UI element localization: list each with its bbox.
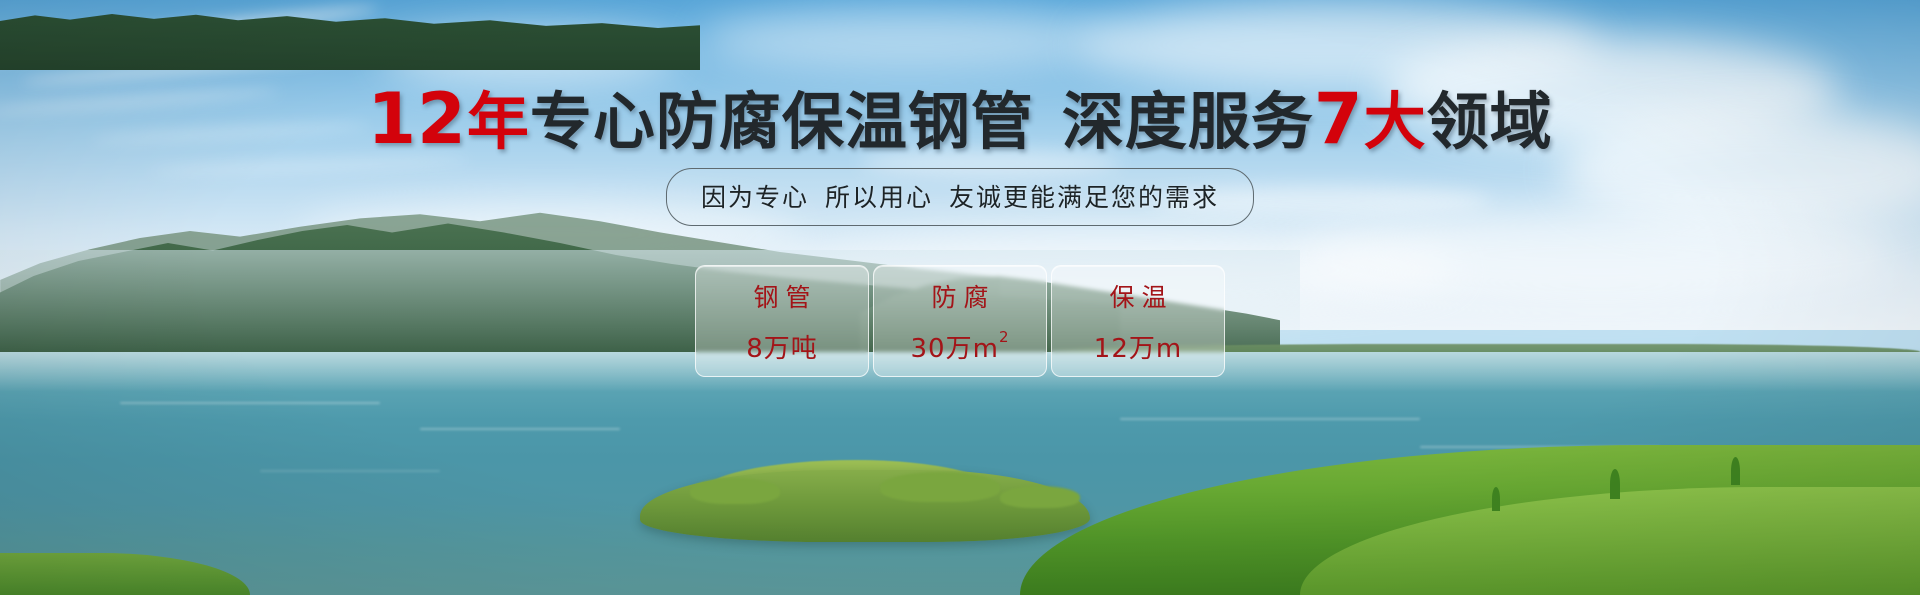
subtitle-part-2: 所以用心 <box>825 183 933 212</box>
headline-years-unit: 年 <box>467 85 530 158</box>
stat-card-label: 防腐 <box>924 278 995 314</box>
headline-service-text: 深度服务 <box>1062 85 1314 158</box>
stat-card-value: 30万m2 <box>911 328 1010 365</box>
headline-years-number: 12 <box>367 78 466 160</box>
stat-card-value: 12万m <box>1094 328 1182 365</box>
stat-cards: 钢管 8万吨 防腐 30万m2 保温 12万m <box>695 265 1225 377</box>
hero-banner: 12年专心防腐保温钢管深度服务7大领域 因为专心所以用心友诚更能满足您的需求 钢… <box>0 0 1920 595</box>
stat-card-value: 8万吨 <box>746 328 818 365</box>
subtitle-part-3: 友诚更能满足您的需求 <box>949 183 1219 212</box>
stat-card-value-superscript: 2 <box>999 330 1010 345</box>
stat-card-insulation: 保温 12万m <box>1051 265 1225 377</box>
headline-fields-text: 领域 <box>1427 85 1553 158</box>
subtitle-pill: 因为专心所以用心友诚更能满足您的需求 <box>666 168 1254 226</box>
stat-card-label: 钢管 <box>746 278 817 314</box>
stat-card-label: 保温 <box>1102 278 1173 314</box>
stat-card-value-text: 12万m <box>1094 328 1182 365</box>
stat-card-value-text: 30万m <box>911 328 999 365</box>
subtitle-part-1: 因为专心 <box>701 183 809 212</box>
stat-card-anticorrosion: 防腐 30万m2 <box>873 265 1047 377</box>
headline-main-text: 专心防腐保温钢管 <box>530 85 1034 158</box>
banner-content: 12年专心防腐保温钢管深度服务7大领域 因为专心所以用心友诚更能满足您的需求 钢… <box>0 0 1920 595</box>
headline-fields-unit: 大 <box>1364 85 1427 158</box>
headline-fields-number: 7 <box>1314 78 1364 160</box>
stat-card-steel-pipe: 钢管 8万吨 <box>695 265 869 377</box>
stat-card-value-text: 8万吨 <box>746 328 818 365</box>
headline: 12年专心防腐保温钢管深度服务7大领域 <box>0 84 1920 154</box>
